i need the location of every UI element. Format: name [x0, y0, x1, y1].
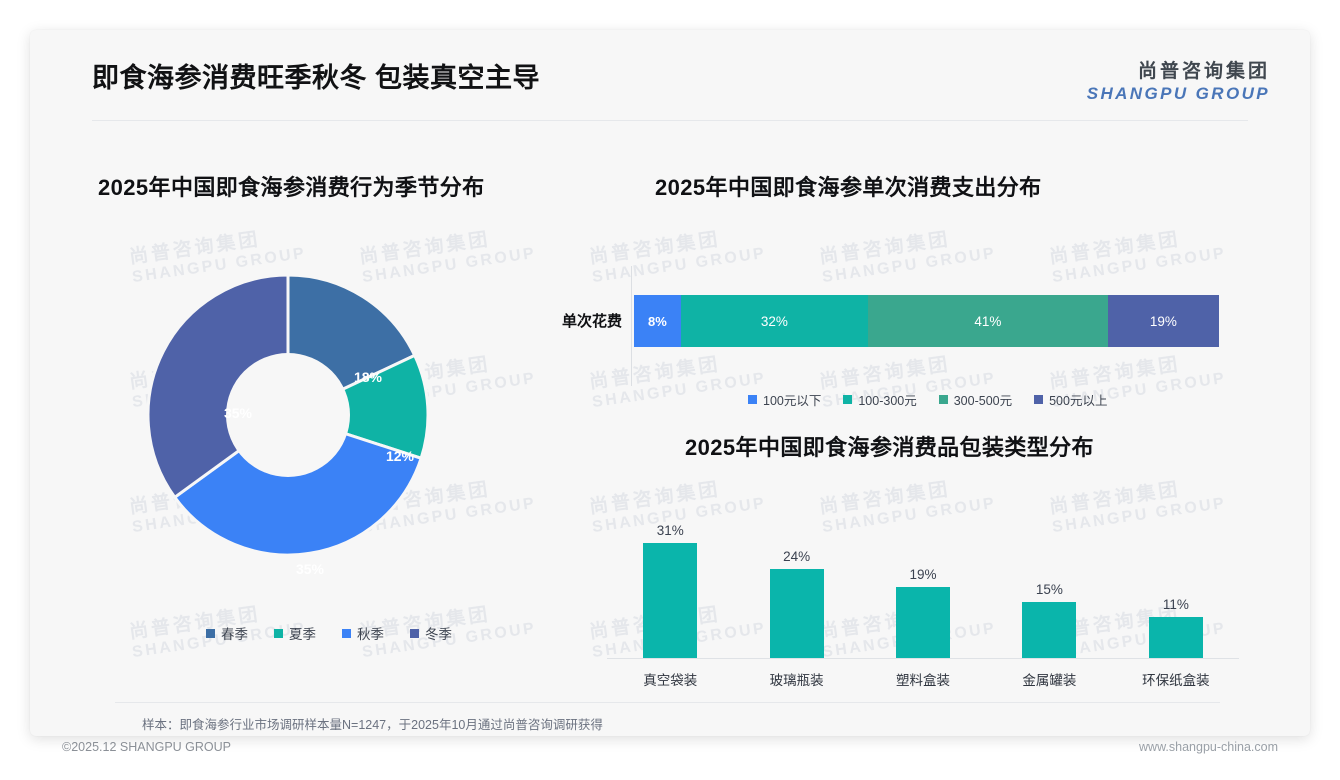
bar-category-label: 塑料盒装 — [860, 669, 986, 689]
stacked-bar-segment[interactable]: 8% — [634, 295, 681, 347]
legend-label: 春季 — [221, 623, 248, 643]
legend-item[interactable]: 500元以上 — [1034, 390, 1107, 409]
bar-value-label: 15% — [1036, 582, 1063, 597]
donut-legend: 春季夏季秋季冬季 — [206, 623, 478, 643]
legend-item[interactable]: 夏季 — [274, 623, 316, 643]
season-donut-chart: 18% 12% 35% 35% 春季夏季秋季冬季 — [98, 225, 588, 655]
bar-rect[interactable] — [896, 587, 950, 658]
slide-card: 尚普咨询集团SHANGPU GROUP尚普咨询集团SHANGPU GROUP尚普… — [30, 30, 1310, 736]
bar-plot-area: 31%24%19%15%11% — [607, 510, 1239, 658]
logo-en-text: SHANGPU GROUP — [1087, 84, 1270, 104]
bar-value-label: 11% — [1163, 597, 1189, 612]
bar-category-label: 环保纸盒装 — [1113, 669, 1239, 689]
bar-rect[interactable] — [643, 543, 697, 658]
donut-value-label: 35% — [296, 561, 324, 577]
slide-footer: ©2025.12 SHANGPU GROUP www.shangpu-china… — [30, 736, 1310, 770]
donut-value-label: 12% — [386, 448, 414, 464]
legend-item[interactable]: 冬季 — [410, 623, 452, 643]
donut-graphic: 18% 12% 35% 35% — [138, 265, 438, 565]
legend-item[interactable]: 100元以下 — [748, 390, 821, 409]
legend-swatch-icon — [939, 395, 948, 404]
spend-stacked-chart: 单次花费 8%32%41%19% 100元以下100-300元300-500元5… — [530, 260, 1250, 420]
bar-chart-title: 2025年中国即食海参消费品包装类型分布 — [685, 430, 1094, 462]
legend-label: 500元以上 — [1049, 390, 1107, 409]
stacked-chart-title: 2025年中国即食海参单次消费支出分布 — [655, 170, 1042, 202]
legend-label: 夏季 — [289, 623, 316, 643]
legend-swatch-icon — [342, 629, 351, 638]
legend-label: 秋季 — [357, 623, 384, 643]
stacked-bar-segment[interactable]: 41% — [868, 295, 1108, 347]
legend-label: 100元以下 — [763, 390, 821, 409]
bar-rect[interactable] — [1022, 602, 1076, 658]
stacked-legend: 100元以下100-300元300-500元500元以上 — [748, 390, 1129, 409]
bar-value-label: 19% — [910, 567, 937, 582]
legend-label: 100-300元 — [858, 390, 916, 409]
bar-column: 11% — [1113, 597, 1239, 658]
legend-item[interactable]: 300-500元 — [939, 390, 1012, 409]
legend-item[interactable]: 春季 — [206, 623, 248, 643]
bar-rect[interactable] — [770, 569, 824, 658]
legend-label: 冬季 — [425, 623, 452, 643]
bar-baseline-axis — [607, 658, 1239, 659]
legend-swatch-icon — [274, 629, 283, 638]
bar-column: 24% — [733, 549, 859, 658]
legend-item[interactable]: 100-300元 — [843, 390, 916, 409]
stacked-bar-track: 8%32%41%19% — [634, 295, 1219, 347]
stacked-bar-segment[interactable]: 32% — [681, 295, 868, 347]
bar-category-label: 真空袋装 — [607, 669, 733, 689]
legend-item[interactable]: 秋季 — [342, 623, 384, 643]
header-divider — [92, 120, 1248, 121]
legend-swatch-icon — [206, 629, 215, 638]
footer-copyright: ©2025.12 SHANGPU GROUP — [62, 740, 231, 754]
logo-cn-text: 尚普咨询集团 — [1087, 56, 1270, 83]
packaging-bar-chart: 31%24%19%15%11% 真空袋装玻璃瓶装塑料盒装金属罐装环保纸盒装 — [590, 480, 1250, 695]
footer-website: www.shangpu-china.com — [1139, 740, 1278, 754]
legend-swatch-icon — [748, 395, 757, 404]
source-footnote: 样本：即食海参行业市场调研样本量N=1247，于2025年10月通过尚普咨询调研… — [142, 714, 603, 733]
brand-logo: 尚普咨询集团 SHANGPU GROUP — [1087, 56, 1270, 104]
bar-column: 31% — [607, 523, 733, 658]
bar-value-label: 24% — [783, 549, 810, 564]
legend-swatch-icon — [1034, 395, 1043, 404]
bar-category-label: 玻璃瓶装 — [733, 669, 859, 689]
bar-column: 15% — [986, 582, 1112, 658]
stacked-category-label: 单次花费 — [530, 310, 622, 331]
bar-category-axis: 真空袋装玻璃瓶装塑料盒装金属罐装环保纸盒装 — [607, 669, 1239, 689]
bar-category-label: 金属罐装 — [986, 669, 1112, 689]
donut-value-label: 35% — [224, 405, 252, 421]
donut-chart-title: 2025年中国即食海参消费行为季节分布 — [98, 170, 485, 202]
footnote-divider — [115, 702, 1220, 703]
donut-svg — [138, 265, 438, 565]
stacked-axis-line — [631, 266, 632, 386]
stacked-bar-segment[interactable]: 19% — [1108, 295, 1219, 347]
legend-swatch-icon — [410, 629, 419, 638]
slide-header: 即食海参消费旺季秋冬 包装真空主导 尚普咨询集团 SHANGPU GROUP — [30, 30, 1310, 120]
legend-label: 300-500元 — [954, 390, 1012, 409]
donut-value-label: 18% — [354, 369, 382, 385]
bar-rect[interactable] — [1149, 617, 1203, 658]
legend-swatch-icon — [843, 395, 852, 404]
page-title: 即食海参消费旺季秋冬 包装真空主导 — [92, 56, 540, 95]
bar-value-label: 31% — [657, 523, 684, 538]
bar-column: 19% — [860, 567, 986, 658]
